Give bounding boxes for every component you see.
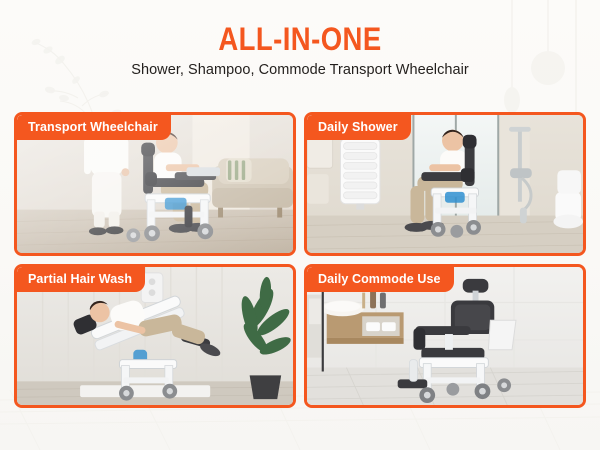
infographic-page: ALL-IN-ONE Shower, Shampoo, Commode Tran… [0, 0, 600, 450]
panel-badge-daily-commode-use: Daily Commode Use [307, 267, 454, 292]
panel-daily-shower[interactable]: Daily Shower [304, 112, 586, 256]
page-title: ALL-IN-ONE [42, 22, 558, 56]
page-subtitle: Shower, Shampoo, Commode Transport Wheel… [0, 62, 600, 78]
panel-daily-commode-use[interactable]: Daily Commode Use [304, 264, 586, 408]
panel-badge-daily-shower: Daily Shower [307, 115, 411, 140]
feature-panel-grid: Transport Wheelchair [14, 112, 586, 408]
panel-partial-hair-wash[interactable]: Partial Hair Wash [14, 264, 296, 408]
panel-badge-partial-hair-wash: Partial Hair Wash [17, 267, 145, 292]
panel-transport-wheelchair[interactable]: Transport Wheelchair [14, 112, 296, 256]
panel-badge-transport-wheelchair: Transport Wheelchair [17, 115, 171, 140]
header: ALL-IN-ONE Shower, Shampoo, Commode Tran… [0, 22, 600, 78]
